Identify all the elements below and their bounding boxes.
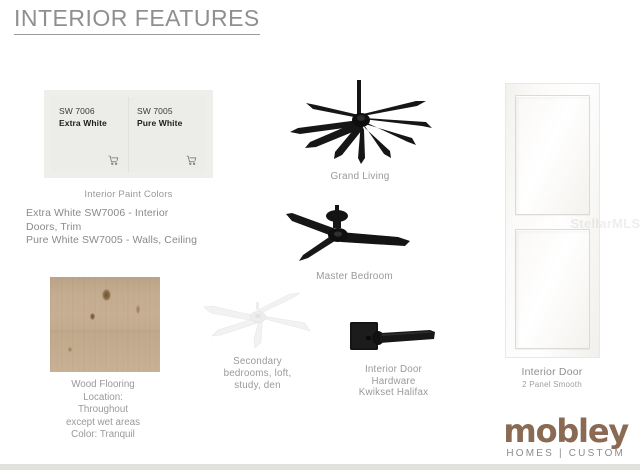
ceiling-fan-9-blade-black-icon (280, 72, 440, 167)
grand-living-fan-caption: Grand Living (280, 171, 440, 182)
shopping-cart-icon[interactable] (108, 155, 119, 166)
door-caption-subtitle: 2 Panel Smooth (497, 380, 607, 389)
wood-caption-line-3: Throughout (48, 404, 158, 417)
paint-detail-line-2: Doors, Trim (26, 221, 226, 235)
mobley-logo-subtitle: HOMES | CUSTOM (503, 448, 628, 459)
paint-swatch-name: Extra White (59, 117, 128, 130)
hardware-caption-line-2: Hardware (336, 376, 451, 388)
interior-door-section: StellarMLS Interior Door 2 Panel Smooth (497, 83, 607, 389)
wood-flooring-section: Wood Flooring Location: Throughout excep… (50, 277, 160, 442)
wood-knot-icon (102, 289, 111, 301)
door-panel-top (515, 95, 590, 215)
paint-colors-caption: Interior Paint Colors (44, 189, 213, 200)
door-caption-title: Interior Door (497, 366, 607, 378)
door-hardware-caption: Interior Door Hardware Kwikset Halifax (336, 364, 451, 399)
master-bedroom-fan-section: Master Bedroom (272, 203, 437, 282)
secondary-caption-line-1: Secondary (200, 356, 315, 368)
paint-swatch-card-extra-white[interactable]: SW 7006 Extra White (51, 97, 128, 172)
wood-flooring-caption: Wood Flooring Location: Throughout excep… (48, 379, 158, 442)
door-lever-handle-black-icon (336, 318, 451, 358)
mobley-logo: mobley HOMES | CUSTOM (503, 415, 628, 459)
ceiling-fan-3-blade-black-icon (272, 203, 437, 265)
paint-swatch-code: SW 7006 (59, 105, 128, 117)
hardware-caption-line-3: Kwikset Halifax (336, 387, 451, 399)
paint-swatch-name: Pure White (137, 117, 206, 130)
interior-door-image: StellarMLS (505, 83, 600, 358)
mobley-logo-wordmark: mobley (503, 415, 628, 447)
paint-colors-details: Extra White SW7006 - Interior Doors, Tri… (26, 207, 226, 248)
wood-knot-icon (90, 313, 95, 320)
wood-knot-icon (68, 347, 72, 352)
master-bedroom-fan-caption: Master Bedroom (272, 271, 437, 282)
wood-caption-line-4: except wet areas (48, 417, 158, 430)
paint-swatch-card-pure-white[interactable]: SW 7005 Pure White (128, 97, 206, 172)
secondary-caption-line-2: bedrooms, loft, (200, 368, 315, 380)
grand-living-fan-section: Grand Living (280, 72, 440, 182)
secondary-fan-section: Secondary bedrooms, loft, study, den (200, 288, 315, 392)
wood-caption-line-2: Location: (48, 392, 158, 405)
paint-swatch-code: SW 7005 (137, 105, 206, 117)
door-hardware-section: Interior Door Hardware Kwikset Halifax (336, 318, 451, 399)
interior-door-caption: Interior Door 2 Panel Smooth (497, 366, 607, 389)
paint-detail-line-1: Extra White SW7006 - Interior (26, 207, 226, 221)
bottom-bar (0, 464, 640, 470)
shopping-cart-icon[interactable] (186, 155, 197, 166)
door-panel-bottom (515, 229, 590, 349)
wood-caption-line-1: Wood Flooring (48, 379, 158, 392)
secondary-caption-line-3: study, den (200, 380, 315, 392)
ceiling-fan-5-blade-white-icon (200, 288, 315, 350)
hardware-caption-line-1: Interior Door (336, 364, 451, 376)
paint-swatch-row: SW 7006 Extra White SW 7005 Pure White (44, 90, 213, 178)
wood-knot-icon (136, 305, 140, 314)
paint-detail-line-3: Pure White SW7005 - Walls, Ceiling (26, 234, 226, 248)
paint-colors-section: SW 7006 Extra White SW 7005 Pure White (44, 90, 213, 248)
wood-caption-line-5: Color: Tranquil (48, 429, 158, 442)
wood-flooring-swatch (50, 277, 160, 372)
page-title: INTERIOR FEATURES (14, 4, 260, 35)
secondary-fan-caption: Secondary bedrooms, loft, study, den (200, 356, 315, 392)
